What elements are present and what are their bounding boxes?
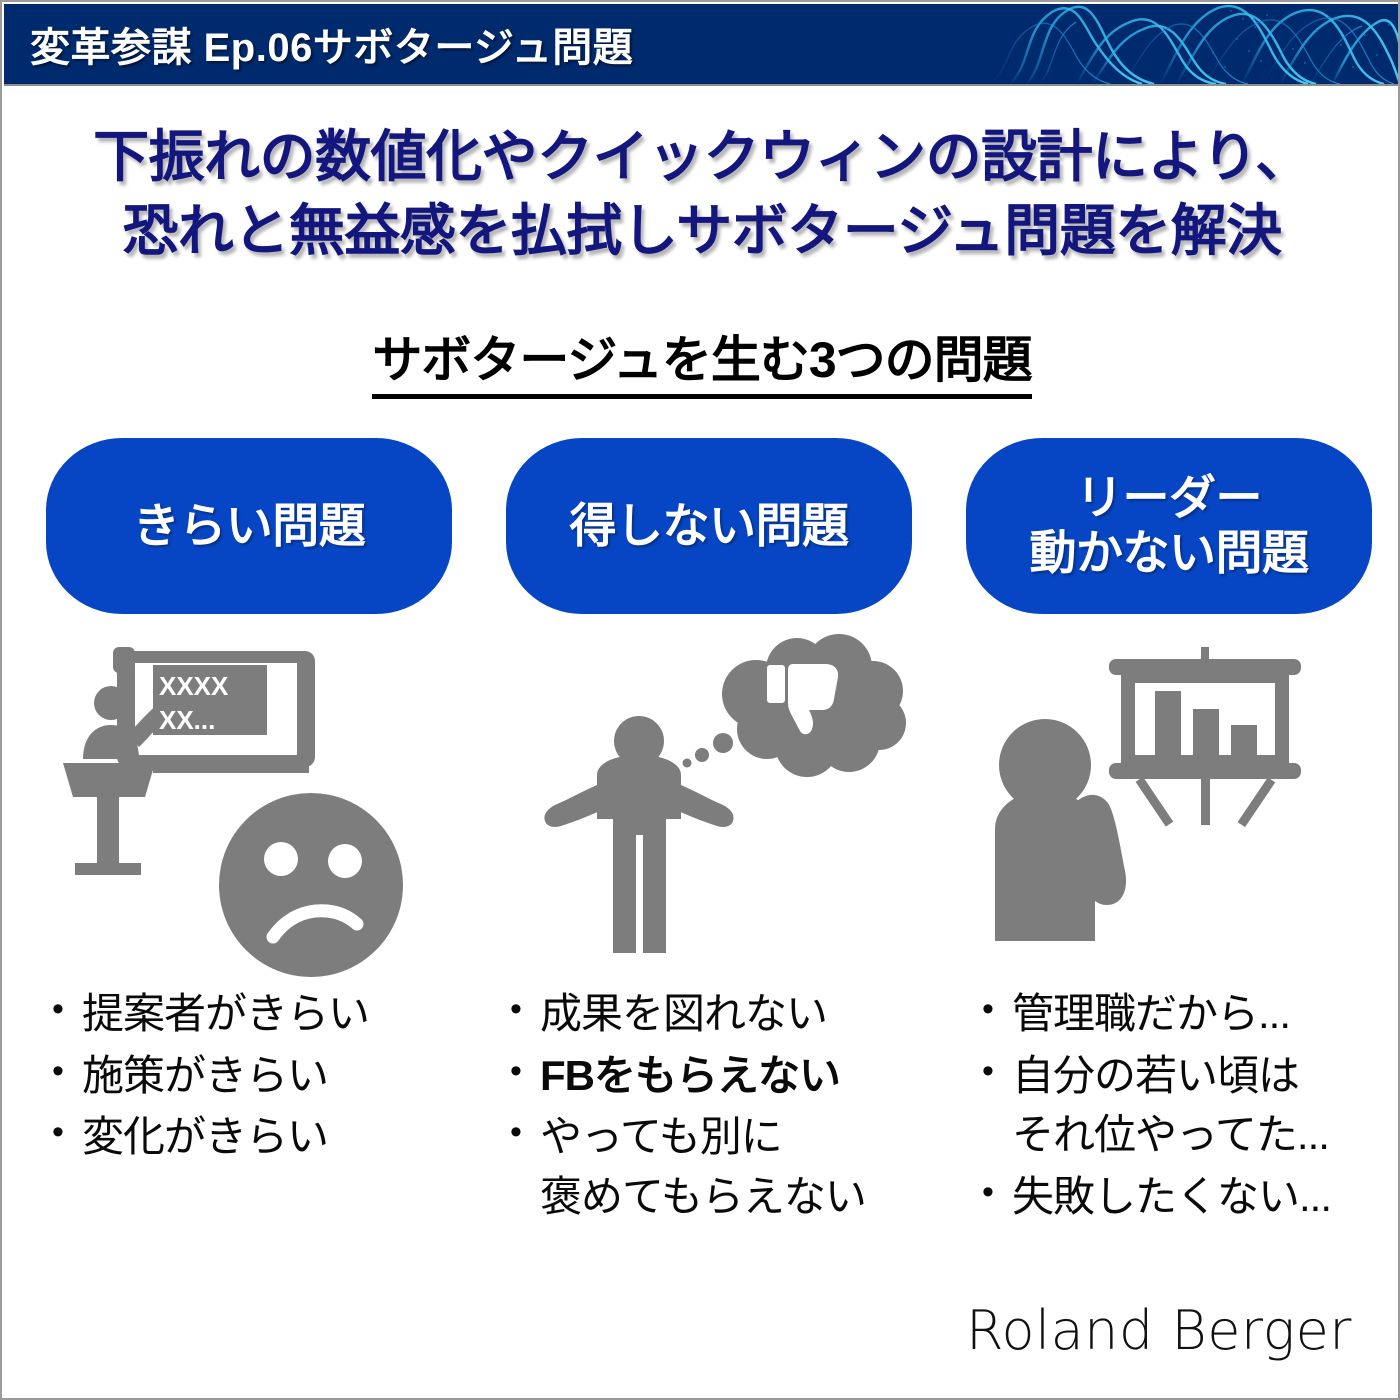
sad-face-icon xyxy=(219,793,403,977)
bullet-text: 管理職だから... xyxy=(1012,984,1372,1044)
list-item: • 自分の若い頃は それ位やってた... xyxy=(982,1046,1372,1165)
bullet-dot-icon: • xyxy=(510,984,540,1036)
bullet-list-1: • 提案者がきらい • 施策がきらい • 変化がきらい xyxy=(52,984,452,1167)
presenter-easel-bar-chart-icon xyxy=(969,619,1369,979)
problem-column-1: きらい問題 xyxy=(46,438,452,1169)
whiteboard-line-1: XXXX xyxy=(159,671,229,701)
bullet-list-2: • 成果を図れない • FBをもらえない • やっても別に 褒めてもらえない xyxy=(510,984,912,1227)
bullet-dot-icon: • xyxy=(510,1107,540,1159)
subtitle-text: サボタージュを生む3つの問題 xyxy=(372,320,1031,399)
problem-pill-3[interactable]: リーダー 動かない問題 xyxy=(966,438,1372,614)
headline-line-2: 恐れと無益感を払拭しサボタージュ問題を解決 xyxy=(2,194,1400,268)
list-item: • 失敗したくない... xyxy=(982,1167,1372,1227)
wave-decoration-icon xyxy=(980,4,1400,84)
subtitle: サボタージュを生む3つの問題 xyxy=(2,320,1400,399)
bullet-dot-icon: • xyxy=(52,1107,82,1159)
list-item: • FBをもらえない xyxy=(510,1046,912,1106)
bullet-dot-icon: • xyxy=(510,1046,540,1098)
illustration-3 xyxy=(966,614,1372,984)
bullet-list-3: • 管理職だから... • 自分の若い頃は それ位やってた... • 失敗したく… xyxy=(982,984,1372,1227)
illustration-1: XXXX XX... xyxy=(46,614,452,984)
illustration-2 xyxy=(506,614,912,984)
list-item: • やっても別に 褒めてもらえない xyxy=(510,1107,912,1226)
header-band: 変革参謀 Ep.06サボタージュ問題 xyxy=(4,4,1400,86)
problem-pill-3-label: リーダー 動かない問題 xyxy=(1030,471,1309,580)
problem-pill-2[interactable]: 得しない問題 xyxy=(506,438,912,614)
bullet-text: 失敗したくない... xyxy=(1012,1167,1372,1227)
bullet-dot-icon: • xyxy=(982,1046,1012,1098)
shrugging-person-thumbs-down-thought-bubble-icon xyxy=(509,619,909,979)
bullet-text: 提案者がきらい xyxy=(82,984,452,1044)
list-item: • 提案者がきらい xyxy=(52,984,452,1044)
bullet-text: やっても別に 褒めてもらえない xyxy=(540,1107,912,1226)
bullet-text: FBをもらえない xyxy=(540,1046,912,1106)
problem-pill-1-label: きらい問題 xyxy=(133,499,366,554)
bullet-text: 自分の若い頃は それ位やってた... xyxy=(1012,1046,1372,1165)
headline-line-1: 下振れの数値化やクイックウィンの設計により、 xyxy=(2,120,1400,194)
problem-pill-2-label: 得しない問題 xyxy=(570,499,849,554)
list-item: • 施策がきらい xyxy=(52,1046,452,1106)
problem-column-2: 得しない問題 xyxy=(506,438,912,1229)
slide-canvas: 変革参謀 Ep.06サボタージュ問題 下振れの数値化やクイックウィンの設計により… xyxy=(0,0,1400,1400)
bullet-text: 成果を図れない xyxy=(540,984,912,1044)
bullet-dot-icon: • xyxy=(982,984,1012,1036)
list-item: • 成果を図れない xyxy=(510,984,912,1044)
list-item: • 変化がきらい xyxy=(52,1107,452,1167)
presenter-podium-whiteboard-sad-face-icon: XXXX XX... xyxy=(49,619,449,979)
whiteboard-line-2: XX... xyxy=(159,705,215,735)
bullet-dot-icon: • xyxy=(982,1167,1012,1219)
header-title: 変革参謀 Ep.06サボタージュ問題 xyxy=(30,15,633,73)
bullet-dot-icon: • xyxy=(52,1046,82,1098)
bullet-dot-icon: • xyxy=(52,984,82,1036)
bullet-text: 施策がきらい xyxy=(82,1046,452,1106)
problem-pill-1[interactable]: きらい問題 xyxy=(46,438,452,614)
bullet-text: 変化がきらい xyxy=(82,1107,452,1167)
problem-column-3: リーダー 動かない問題 xyxy=(966,438,1372,1229)
roland-berger-logo: Roland Berger xyxy=(966,1299,1352,1362)
list-item: • 管理職だから... xyxy=(982,984,1372,1044)
headline: 下振れの数値化やクイックウィンの設計により、 恐れと無益感を払拭しサボタージュ問… xyxy=(2,120,1400,268)
